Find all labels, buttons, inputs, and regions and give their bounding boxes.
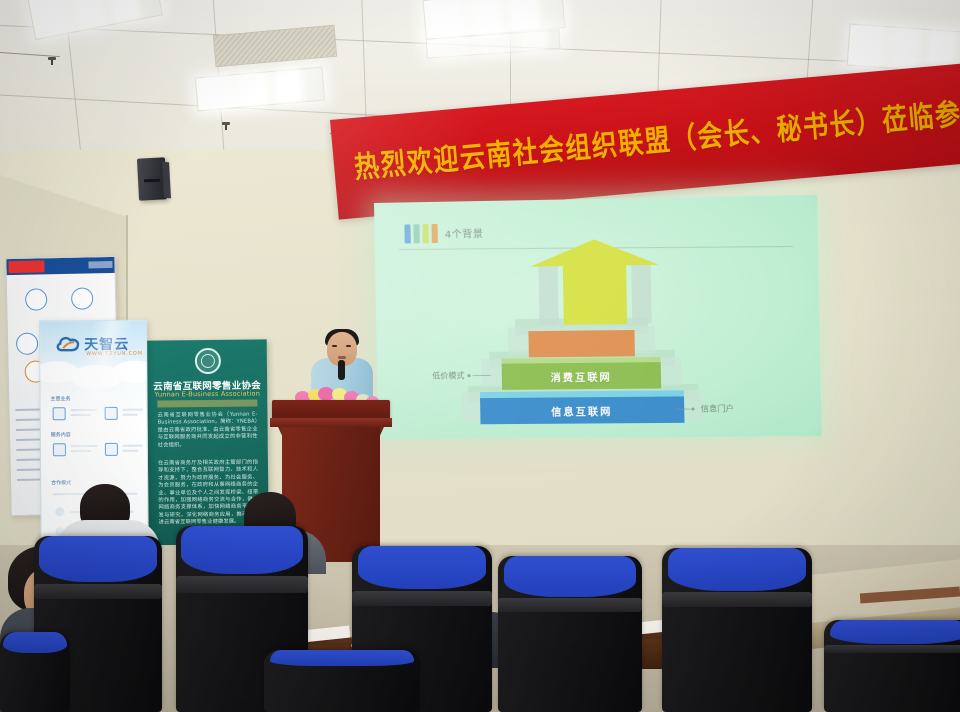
chair-headrest (358, 546, 487, 589)
presenter-mouth (338, 356, 346, 359)
auditorium-chair (498, 556, 642, 712)
association-paragraph-1: 云南省互联网零售业协会（Yunnan E-Business Associatio… (157, 411, 257, 449)
callout-right-label: 信息门户 (701, 403, 734, 414)
sprinkler-head (48, 57, 56, 60)
presenter-eye-left (332, 345, 337, 347)
pyramid-tier-blue: 信息互联网 (480, 396, 684, 424)
callout-right-leader (676, 409, 690, 410)
projection-screen: 4个背景 消费互联网 (374, 195, 822, 439)
association-subtitle: Yunnan E-Business Association (147, 389, 267, 398)
pyramid-top-wing-left (538, 264, 558, 325)
callout-right-dot (691, 408, 694, 411)
chair-headrest (830, 620, 960, 644)
chair-band (352, 591, 492, 606)
poster-logo-badge (8, 260, 44, 273)
projected-slide: 4个背景 消费互联网 (374, 195, 822, 439)
callout-left-dot (467, 374, 470, 377)
poster-node (71, 287, 93, 309)
speaker-grille-slot (144, 179, 160, 183)
pyramid-tier-green: 消费互联网 (502, 362, 662, 390)
pyramid-tier-orange (528, 330, 635, 357)
chair-band (662, 592, 812, 607)
callout-left-label: 低价模式 (432, 370, 464, 381)
pyramid-top-wing-right (631, 263, 652, 324)
auditorium-chair (264, 650, 420, 712)
pyramid-top-shaft (563, 257, 628, 325)
poster-node (16, 333, 38, 355)
auditorium-chair (0, 632, 70, 712)
podium-lip (270, 418, 392, 427)
conference-room-photo: 热烈欢迎云南社会组织联盟（会长、秘书长）莅临参加第八期品牌日活动 4个背景 (0, 0, 960, 712)
chair-headrest (270, 650, 414, 666)
auditorium-chair (662, 548, 812, 712)
chair-band (824, 645, 960, 653)
chair-band (34, 584, 162, 600)
chair-band (176, 576, 308, 593)
callout-left-leader (473, 375, 491, 376)
association-logo (195, 348, 221, 374)
chair-headrest (504, 556, 637, 597)
auditorium-chair (824, 620, 960, 712)
chair-headrest (668, 548, 806, 591)
presenter-eye-right (346, 345, 351, 347)
chair-band (498, 598, 642, 612)
pyramid-diagram: 消费互联网 信息互联网 低价模式 信息门户 (374, 195, 822, 439)
poster-header-tag (88, 261, 112, 269)
chair-headrest (181, 526, 302, 574)
chair-headrest (3, 632, 67, 653)
chair-headrest (39, 536, 157, 582)
handheld-microphone (338, 360, 345, 380)
poster-node (25, 288, 47, 310)
sprinkler-head (222, 122, 230, 125)
association-strip (157, 399, 257, 407)
